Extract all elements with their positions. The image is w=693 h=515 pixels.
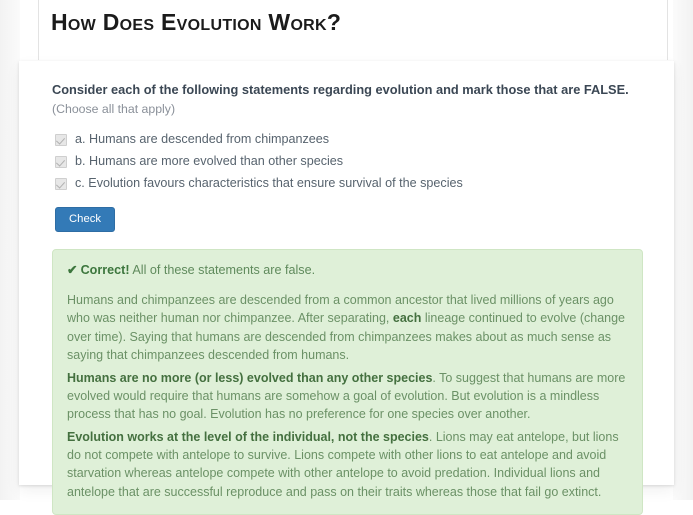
checkbox-icon[interactable]	[55, 134, 67, 146]
check-mark-icon: ✔	[67, 263, 78, 277]
page-header: How Does Evolution Work?	[38, 0, 668, 60]
explanation-paragraph: Evolution works at the level of the indi…	[67, 428, 628, 501]
list-item[interactable]: c. Evolution favours characteristics tha…	[52, 176, 643, 192]
status-detail: All of these statements are false.	[132, 263, 315, 277]
question-card-body: Consider each of the following statement…	[19, 61, 674, 515]
paragraph-lead: Evolution works at the level of the indi…	[67, 430, 429, 444]
page-gutter-right	[673, 0, 693, 500]
check-button[interactable]: Check	[55, 207, 115, 232]
checkbox-icon[interactable]	[55, 178, 67, 190]
checkbox-icon[interactable]	[55, 156, 67, 168]
question-instruction: (Choose all that apply)	[52, 101, 643, 119]
status-label: Correct!	[81, 263, 130, 277]
page-title: How Does Evolution Work?	[51, 9, 341, 36]
list-item[interactable]: b. Humans are more evolved than other sp…	[52, 154, 643, 170]
feedback-panel: ✔Correct! All of these statements are fa…	[52, 249, 643, 515]
list-item[interactable]: a. Humans are descended from chimpanzees	[52, 132, 643, 148]
question-card: Consider each of the following statement…	[19, 61, 674, 485]
page-gutter-left	[0, 0, 20, 500]
question-prompt: Consider each of the following statement…	[52, 81, 643, 100]
explanation-paragraph: Humans and chimpanzees are descended fro…	[67, 291, 628, 364]
statement-list: a. Humans are descended from chimpanzees…	[52, 132, 643, 191]
status-badge: ✔Correct! All of these statements are fa…	[67, 262, 628, 278]
statement-label: a. Humans are descended from chimpanzees	[75, 132, 329, 148]
statement-label: c. Evolution favours characteristics tha…	[75, 176, 463, 192]
paragraph-emphasis: each	[393, 311, 422, 325]
paragraph-lead: Humans are no more (or less) evolved tha…	[67, 371, 432, 385]
explanation-paragraph: Humans are no more (or less) evolved tha…	[67, 369, 628, 423]
page-root: How Does Evolution Work? Consider each o…	[0, 0, 693, 500]
statement-label: b. Humans are more evolved than other sp…	[75, 154, 343, 170]
